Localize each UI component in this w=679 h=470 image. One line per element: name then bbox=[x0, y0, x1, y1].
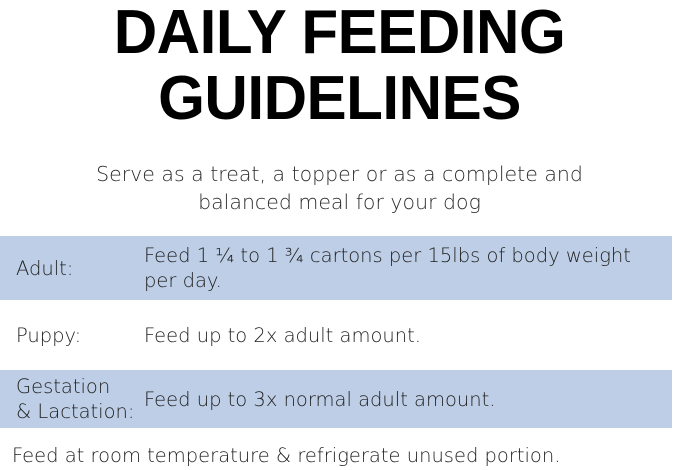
row-value-adult-line-2: per day. bbox=[144, 268, 664, 293]
row-value-adult: Feed 1 ¼ to 1 ¾ cartons per 15lbs of bod… bbox=[144, 243, 672, 293]
row-label-adult-line-1: Adult: bbox=[16, 256, 144, 281]
subtitle-line-2: balanced meal for your dog bbox=[40, 188, 639, 216]
row-value-gestation-lactation: Feed up to 3x normal adult amount. bbox=[144, 387, 672, 412]
row-value-gestation-line-1: Feed up to 3x normal adult amount. bbox=[144, 387, 664, 412]
row-label-puppy: Puppy: bbox=[0, 323, 144, 348]
feeding-table: Adult: Feed 1 ¼ to 1 ¾ cartons per 15lbs… bbox=[0, 236, 679, 428]
row-label-puppy-line-1: Puppy: bbox=[16, 323, 144, 348]
row-value-adult-line-1: Feed 1 ¼ to 1 ¾ cartons per 15lbs of bod… bbox=[144, 243, 664, 268]
row-label-adult: Adult: bbox=[0, 256, 144, 281]
title-line-1: DAILY FEEDING bbox=[10, 0, 669, 66]
row-label-gestation-line-1: Gestation bbox=[16, 374, 144, 399]
feeding-guidelines-page: DAILY FEEDING GUIDELINES Serve as a trea… bbox=[0, 0, 679, 470]
subtitle-line-1: Serve as a treat, a topper or as a compl… bbox=[40, 160, 639, 188]
table-row-puppy: Puppy: Feed up to 2x adult amount. bbox=[0, 300, 672, 370]
table-row-adult: Adult: Feed 1 ¼ to 1 ¾ cartons per 15lbs… bbox=[0, 236, 672, 300]
subtitle: Serve as a treat, a topper or as a compl… bbox=[40, 160, 639, 216]
footer-note: Feed at room temperature & refrigerate u… bbox=[12, 444, 672, 468]
row-label-gestation-lactation: Gestation & Lactation: bbox=[0, 374, 144, 424]
table-row-gestation-lactation: Gestation & Lactation: Feed up to 3x nor… bbox=[0, 370, 672, 428]
row-label-gestation-line-2: & Lactation: bbox=[16, 399, 144, 424]
page-title: DAILY FEEDING GUIDELINES bbox=[0, 0, 679, 132]
title-line-2: GUIDELINES bbox=[10, 66, 669, 132]
row-value-puppy: Feed up to 2x adult amount. bbox=[144, 323, 672, 348]
row-value-puppy-line-1: Feed up to 2x adult amount. bbox=[144, 323, 664, 348]
